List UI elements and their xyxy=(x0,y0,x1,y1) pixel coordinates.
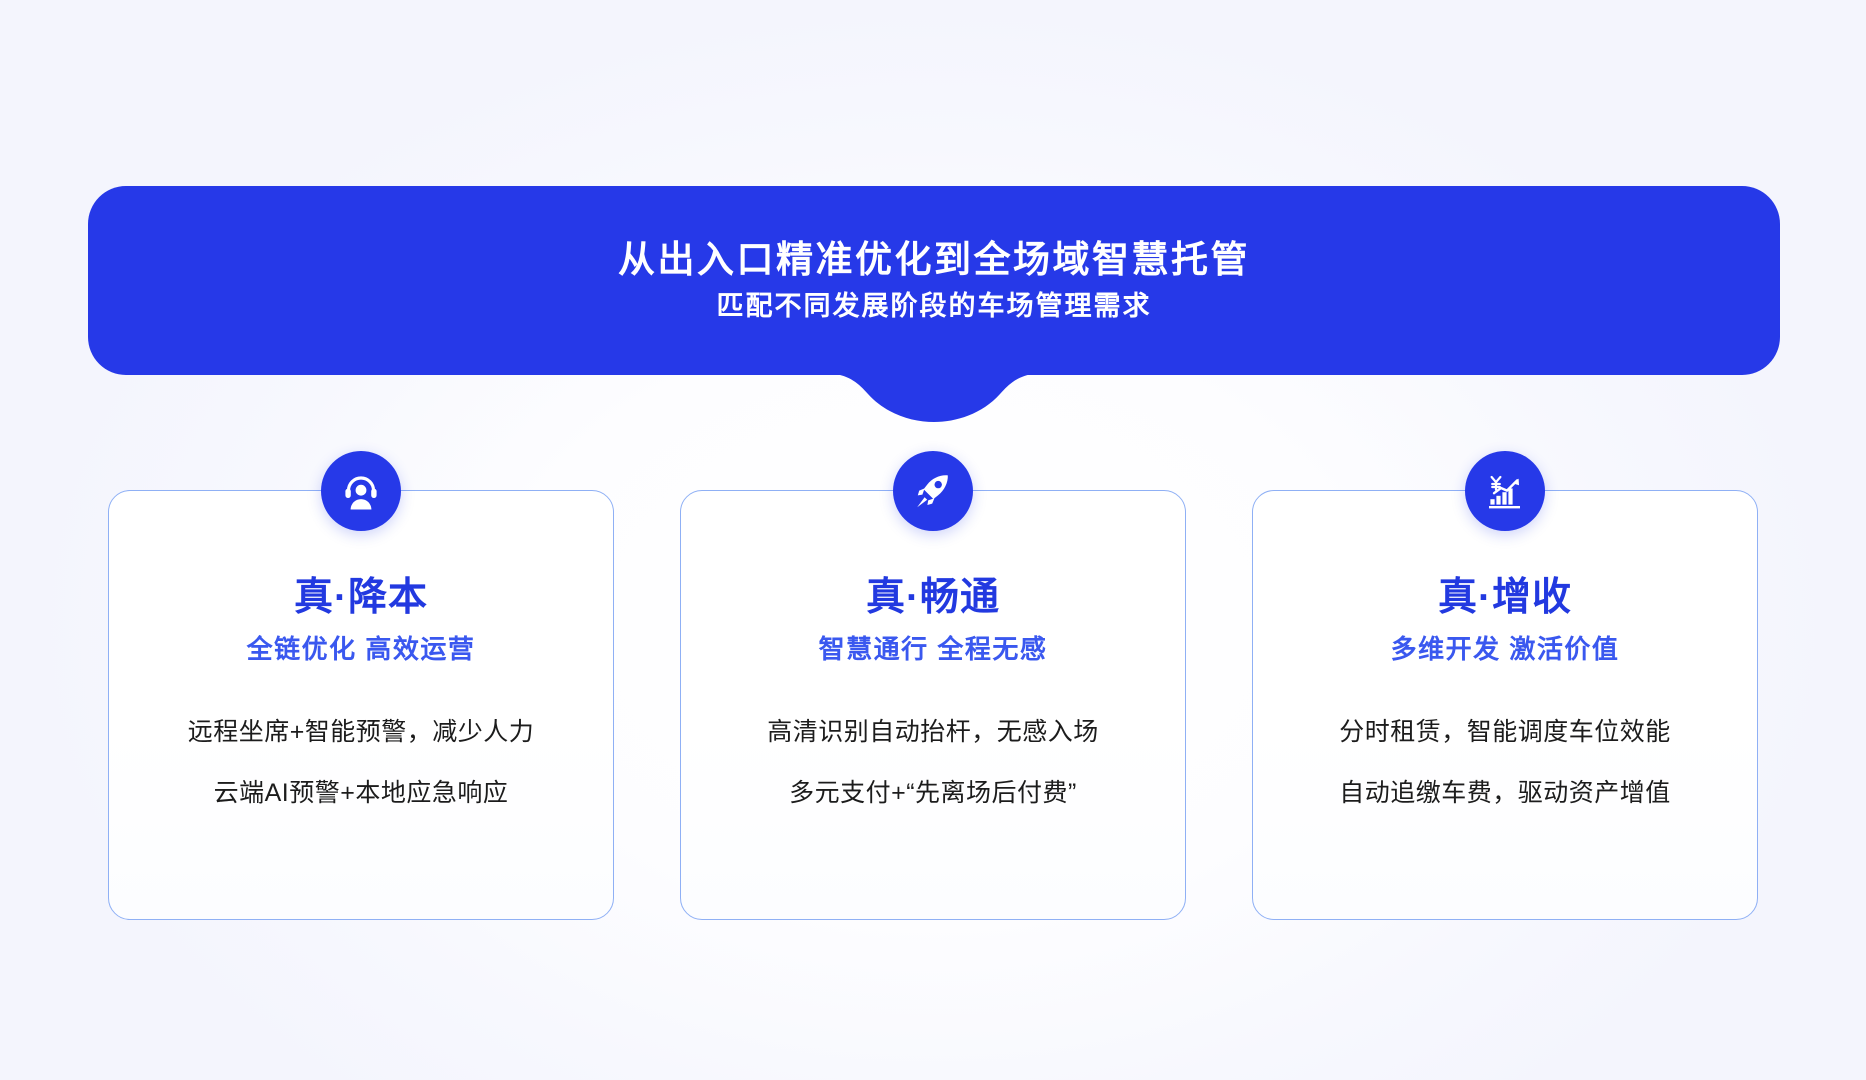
card-line: 自动追缴车费，驱动资产增值 xyxy=(1339,778,1671,809)
headset-agent-icon xyxy=(321,451,401,531)
card-title: 真·畅通 xyxy=(866,577,1000,620)
feature-card-cost-reduction[interactable]: 真·降本 全链优化 高效运营 远程坐席+智能预警，减少人力 云端AI预警+本地应… xyxy=(108,490,614,920)
card-title: 真·增收 xyxy=(1438,577,1572,620)
card-line: 远程坐席+智能预警，减少人力 xyxy=(188,717,535,748)
yen-growth-chart-icon xyxy=(1465,451,1545,531)
card-subtitle: 多维开发 激活价值 xyxy=(1391,634,1620,665)
card-line: 分时租赁，智能调度车位效能 xyxy=(1339,717,1671,748)
headline-banner: 从出入口精准优化到全场域智慧托管 匹配不同发展阶段的车场管理需求 xyxy=(88,186,1780,418)
card-title: 真·降本 xyxy=(294,577,428,620)
feature-card-revenue-growth[interactable]: 真·增收 多维开发 激活价值 分时租赁，智能调度车位效能 自动追缴车费，驱动资产… xyxy=(1252,490,1758,920)
feature-card-smooth-traffic[interactable]: 真·畅通 智慧通行 全程无感 高清识别自动抬杆，无感入场 多元支付+“先离场后付… xyxy=(680,490,1186,920)
rocket-icon xyxy=(893,451,973,531)
card-subtitle: 全链优化 高效运营 xyxy=(247,634,476,665)
card-subtitle: 智慧通行 全程无感 xyxy=(819,634,1048,665)
feature-cards-row: 真·降本 全链优化 高效运营 远程坐席+智能预警，减少人力 云端AI预警+本地应… xyxy=(108,490,1758,920)
banner-title: 从出入口精准优化到全场域智慧托管 xyxy=(618,237,1250,283)
banner-body: 从出入口精准优化到全场域智慧托管 匹配不同发展阶段的车场管理需求 xyxy=(88,186,1780,375)
card-body: 高清识别自动抬杆，无感入场 多元支付+“先离场后付费” xyxy=(681,717,1185,810)
card-line: 高清识别自动抬杆，无感入场 xyxy=(767,717,1099,748)
banner-subtitle: 匹配不同发展阶段的车场管理需求 xyxy=(717,289,1152,324)
card-body: 远程坐席+智能预警，减少人力 云端AI预警+本地应急响应 xyxy=(109,717,613,810)
banner-tail-pointer xyxy=(804,370,1064,422)
card-line: 云端AI预警+本地应急响应 xyxy=(214,778,509,809)
card-body: 分时租赁，智能调度车位效能 自动追缴车费，驱动资产增值 xyxy=(1253,717,1757,810)
poster-canvas: 从出入口精准优化到全场域智慧托管 匹配不同发展阶段的车场管理需求 真·降本 全链… xyxy=(0,0,1866,1080)
card-line: 多元支付+“先离场后付费” xyxy=(789,778,1077,809)
